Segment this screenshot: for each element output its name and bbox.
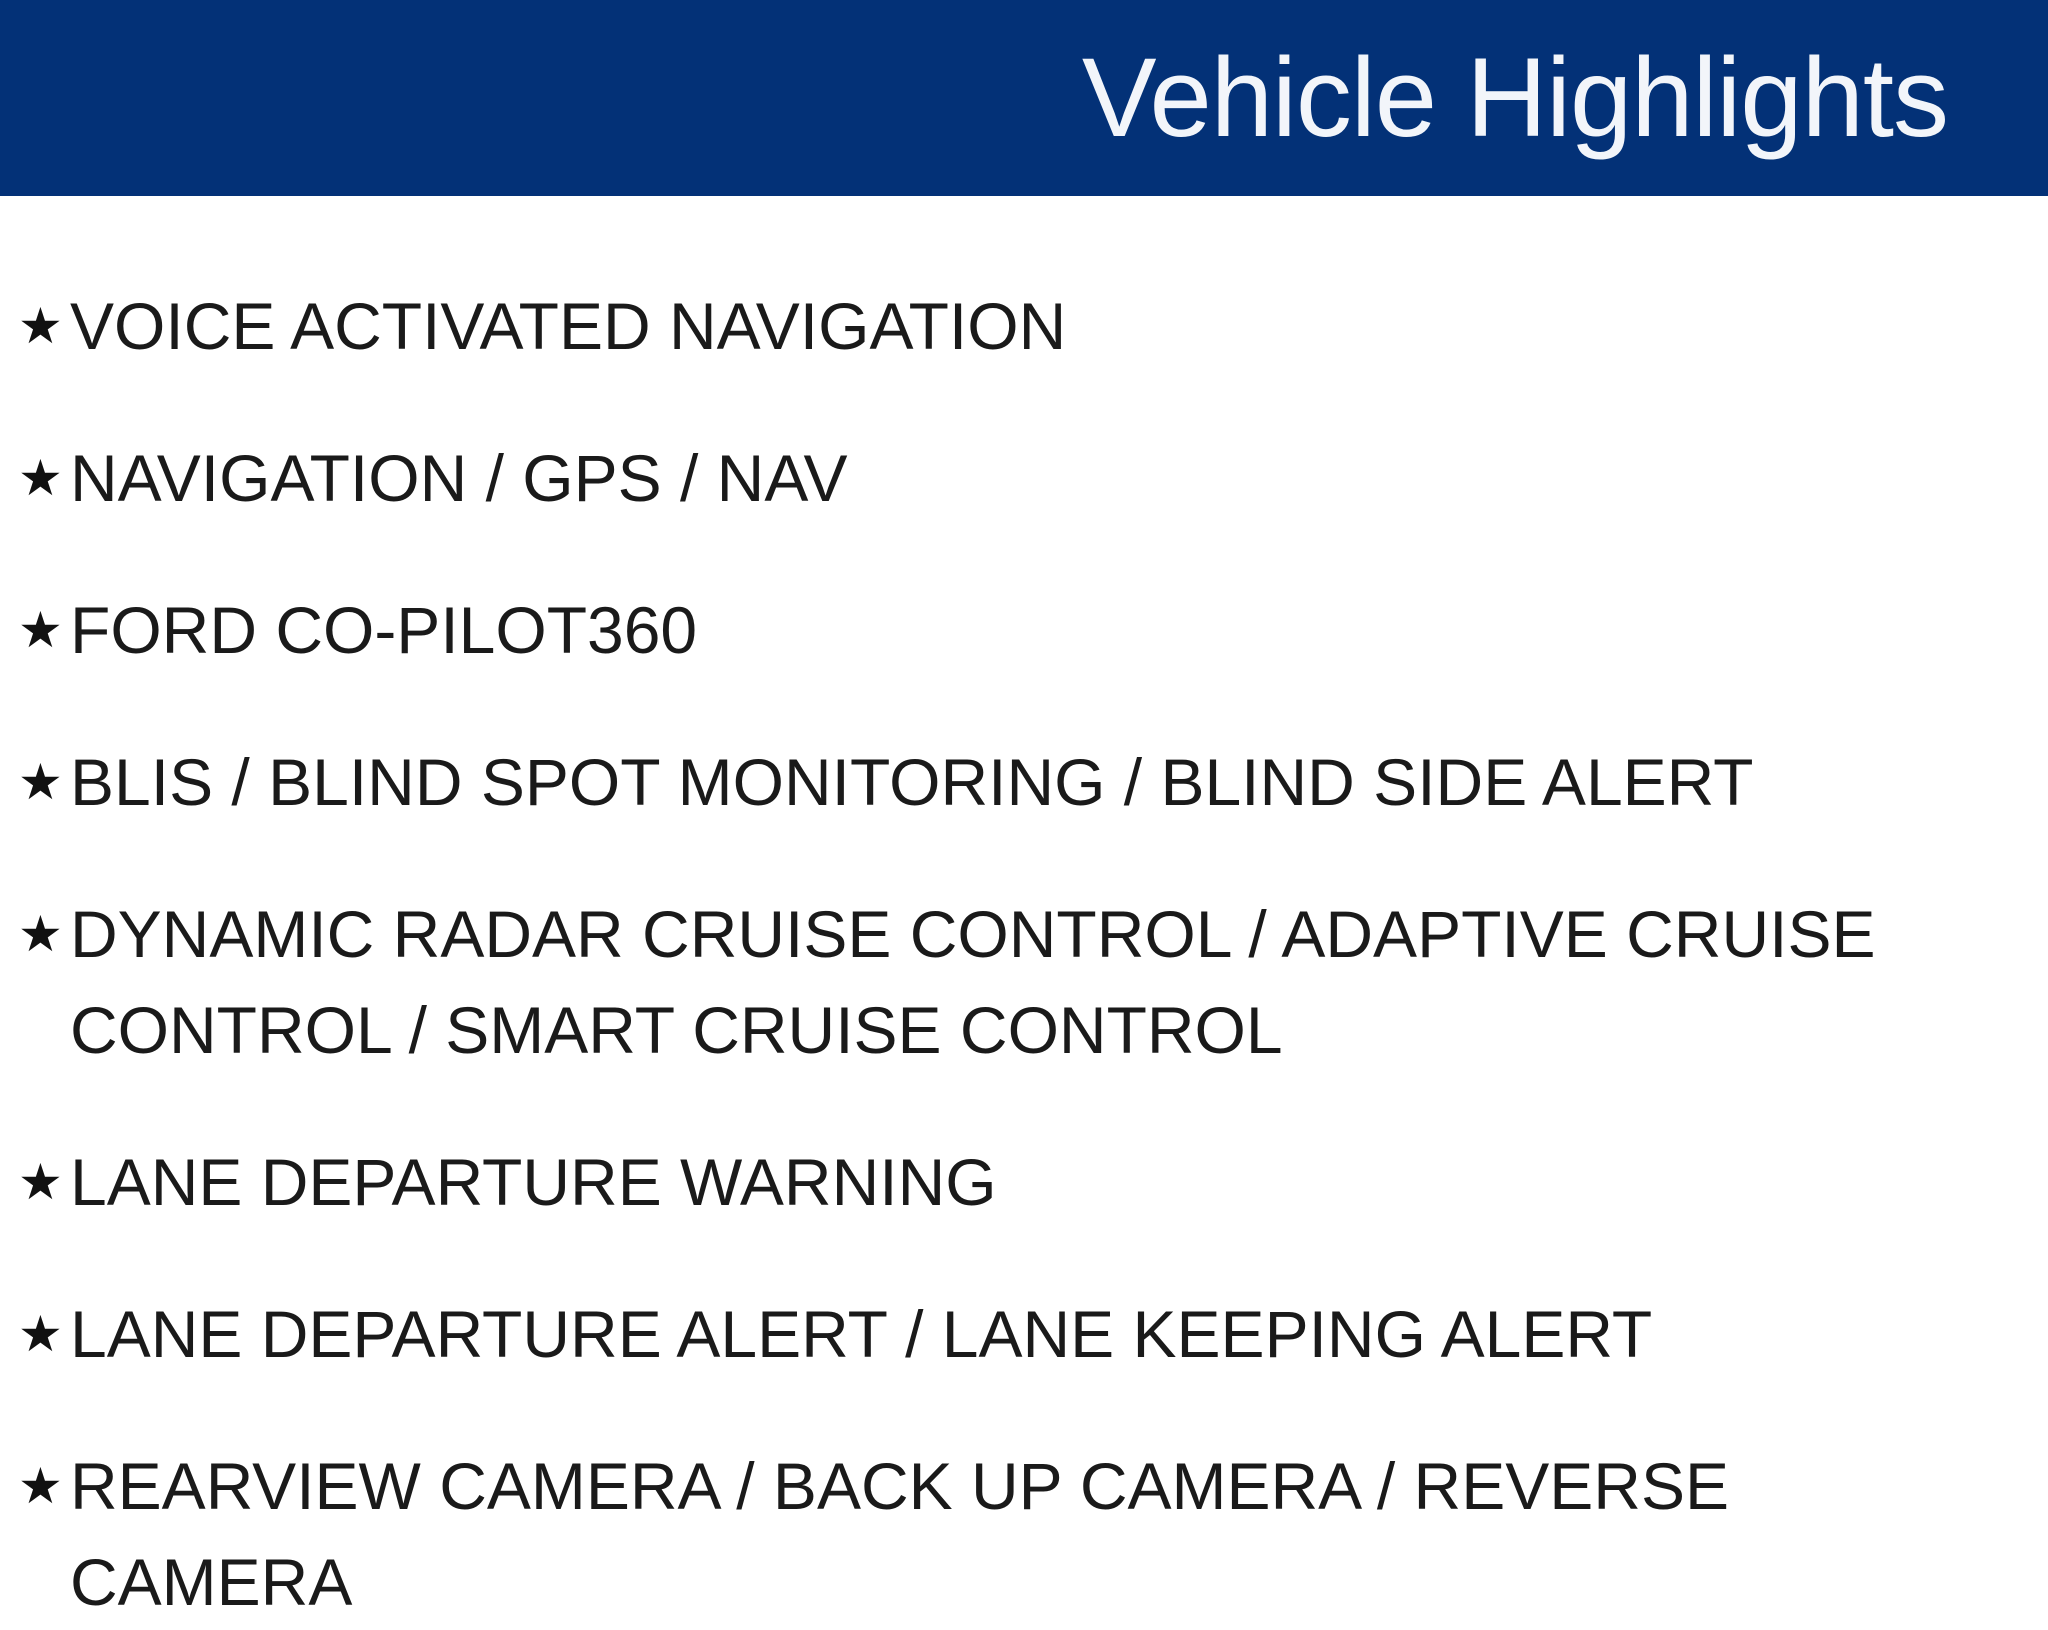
list-item: ★ REARVIEW CAMERA / BACK UP CAMERA / REV…	[18, 1438, 2018, 1630]
list-item: ★ VOICE ACTIVATED NAVIGATION	[18, 278, 2018, 374]
list-item: ★ BLIS / BLIND SPOT MONITORING / BLIND S…	[18, 734, 2018, 830]
star-bullet-icon: ★	[18, 1438, 70, 1534]
vehicle-highlights-list: ★ VOICE ACTIVATED NAVIGATION ★ NAVIGATIO…	[0, 196, 2048, 1536]
star-bullet-icon: ★	[18, 1286, 70, 1382]
highlight-label: NAVIGATION / GPS / NAV	[70, 430, 2018, 526]
highlight-label: VOICE ACTIVATED NAVIGATION	[70, 278, 2018, 374]
star-bullet-icon: ★	[18, 886, 70, 982]
highlight-label: DYNAMIC RADAR CRUISE CONTROL / ADAPTIVE …	[70, 886, 2018, 1078]
page-title: Vehicle Highlights	[1082, 42, 1948, 154]
star-bullet-icon: ★	[18, 734, 70, 830]
list-item: ★ NAVIGATION / GPS / NAV	[18, 430, 2018, 526]
list-item: ★ LANE DEPARTURE ALERT / LANE KEEPING AL…	[18, 1286, 2018, 1382]
star-bullet-icon: ★	[18, 278, 70, 374]
list-item: ★ FORD CO-PILOT360	[18, 582, 2018, 678]
header-band: Vehicle Highlights	[0, 0, 2048, 196]
highlight-label: LANE DEPARTURE ALERT / LANE KEEPING ALER…	[70, 1286, 2018, 1382]
star-bullet-icon: ★	[18, 1134, 70, 1230]
highlight-label: LANE DEPARTURE WARNING	[70, 1134, 2018, 1230]
highlight-label: REARVIEW CAMERA / BACK UP CAMERA / REVER…	[70, 1438, 2018, 1630]
star-bullet-icon: ★	[18, 582, 70, 678]
list-item: ★ LANE DEPARTURE WARNING	[18, 1134, 2018, 1230]
highlight-label: BLIS / BLIND SPOT MONITORING / BLIND SID…	[70, 734, 2018, 830]
list-item: ★ DYNAMIC RADAR CRUISE CONTROL / ADAPTIV…	[18, 886, 2018, 1078]
star-bullet-icon: ★	[18, 430, 70, 526]
highlight-label: FORD CO-PILOT360	[70, 582, 2018, 678]
vehicle-highlights-slide: Vehicle Highlights ★ VOICE ACTIVATED NAV…	[0, 0, 2048, 1536]
